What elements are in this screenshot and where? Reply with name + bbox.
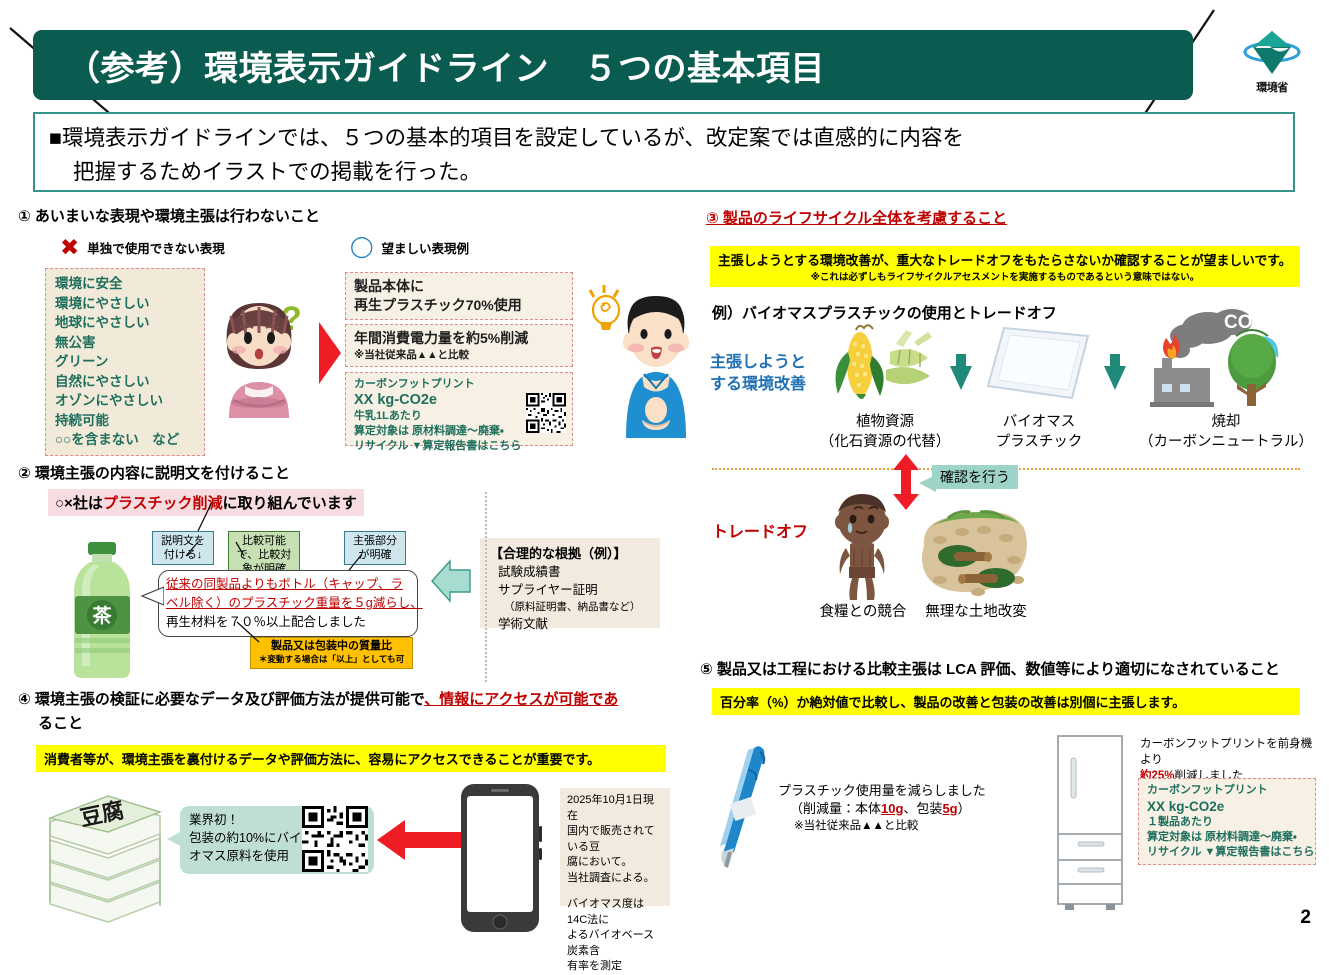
incineration-co2-icon: CO 2	[1136, 306, 1296, 419]
tag-mass-ratio-sub: ＊変動する場合は「以上」としても可	[254, 653, 409, 666]
deforestation-icon	[918, 500, 1032, 607]
cfp-title: カーボンフットプリント	[1147, 783, 1307, 798]
cfp-value: XX kg-CO2e	[1147, 798, 1307, 815]
refrigerator-illustration	[1052, 734, 1130, 919]
section-4-yellow-note: 消費者等が、環境主張を裏付けるデータや評価方法に、容易にアクセスできることが重要…	[36, 745, 666, 772]
note-line: よるバイオベース炭素含	[567, 928, 663, 959]
good-card-1: 製品本体に 再生プラスチック70%使用	[345, 272, 573, 320]
good-expressions-label: 望ましい表現例	[382, 238, 470, 257]
section-3-improvement-label: 主張しようと する環境改善	[710, 352, 806, 396]
note-line: 国内で販売されている豆	[567, 824, 663, 855]
lightbulb-icon	[590, 285, 619, 330]
tag-mass-ratio: 製品又は包装中の質量比 ＊変動する場合は「以上」としても可	[250, 637, 413, 669]
smartphone-illustration	[455, 782, 547, 939]
section-5-yellow-note: 百分率（%）か絶対値で比較し、製品の改善と包装の改善は別個に主張します。	[712, 688, 1300, 715]
good-card-1-line-1: 製品本体に	[354, 277, 564, 296]
evidence-item: 学術文献	[490, 615, 650, 633]
confirm-tag-tail-icon	[918, 474, 936, 494]
section-3-yellow-note: 主張しようとする環境改善が、重大なトレードオフをもたらさないか確認することが望ま…	[710, 246, 1300, 287]
tradeoff-item-2-label: 無理な土地改変	[900, 602, 1052, 622]
pen-value-package: 5g	[942, 801, 957, 816]
bubble-line-1: 従来の同製品よりもボトル（キャップ、ラ	[166, 575, 410, 594]
ministry-emblem-icon	[1243, 28, 1301, 78]
x-mark-icon: ✖	[60, 237, 79, 257]
section-4-note-box: 2025年10月1日現在 国内で販売されている豆 腐において。 当社調査による。…	[560, 788, 670, 906]
section-4-heading-part-1: ④ 環境主張の検証に必要なデータ及び評価方法が提供可能で	[18, 691, 424, 708]
section-3-yellow-sub: ※これは必ずしもライフサイクルアセスメントを実施するものであるという意味ではない…	[718, 269, 1292, 283]
section-4-heading-highlight: 、情報にアクセスが可能であ	[424, 691, 618, 708]
pen-description: プラスチック使用量を減らしました （削減量：本体10g、包装5g） ※当社従来品…	[778, 782, 986, 834]
evidence-item: 試験成績書	[490, 563, 650, 581]
lead-line-1: ■環境表示ガイドラインでは、５つの基本的項目を設定しているが、改定案では直感的に…	[49, 121, 1279, 155]
note-line: 腐において。	[567, 855, 663, 871]
flow-item-3-label: 焼却 （カーボンニュートラル）	[1128, 412, 1324, 452]
qr-code-icon[interactable]	[302, 806, 368, 872]
tofu-package-illustration: 豆腐	[30, 786, 178, 931]
good-expressions-header: ◯ 望ましい表現例	[350, 237, 469, 257]
section-3-yellow-main: 主張しようとする環境改善が、重大なトレードオフをもたらさないか確認することが望ま…	[718, 250, 1292, 269]
mint-bubble-tail-icon	[166, 828, 184, 850]
evidence-title: 【合理的な根拠（例）】	[490, 544, 650, 563]
section-5-yellow-text: 百分率（%）か絶対値で比較し、製品の改善と包装の改善は別個に主張します。	[720, 692, 1292, 711]
section-5-heading: ⑤ 製品又は工程における比較主張は LCA 評価、数値等により適切になされている…	[700, 658, 1280, 679]
confused-person-illustration: ?	[207, 290, 327, 425]
lead-statement-box: ■環境表示ガイドラインでは、５つの基本的項目を設定しているが、改定案では直感的に…	[33, 112, 1295, 192]
co2-subscript: 2	[1256, 322, 1263, 336]
section-4-heading-part-2: ること	[18, 712, 698, 733]
flow-item-2-label: バイオマス プラスチック	[972, 412, 1106, 452]
confirm-action-tag: 確認を行う	[932, 465, 1018, 489]
right-arrow-red-icon	[317, 320, 343, 391]
list-item: オゾンにやさしい	[55, 391, 195, 411]
section-3-heading: ③ 製品のライフサイクル全体を考慮すること	[706, 207, 1007, 228]
pet-bottle-illustration: 茶	[50, 540, 154, 685]
cfp-line-2: 算定対象は 原材料調達～廃棄・	[1147, 830, 1307, 845]
bottle-label-text: 茶	[92, 604, 112, 627]
tag-leader-line-mass	[235, 620, 271, 646]
slide-root: （参考）環境表示ガイドライン ５つの基本項目 環境省 ■環境表示ガイドラインでは…	[0, 0, 1329, 937]
idea-person-illustration	[578, 282, 698, 445]
tag-mass-ratio-main: 製品又は包装中の質量比	[254, 640, 409, 653]
section-4-yellow-text: 消費者等が、環境主張を裏付けるデータや評価方法に、容易にアクセスできることが重要…	[44, 749, 658, 768]
section-1-heading: ① あいまいな表現や環境主張は行わないこと	[18, 205, 320, 226]
good-card-2: 年間消費電力量を約5%削減 ※当社従来品▲▲と比較	[345, 324, 573, 367]
section-2-heading: ② 環境主張の内容に説明文を付けること	[18, 462, 290, 483]
bubble-tail-icon	[140, 585, 164, 609]
bubble-line-2: ベル除く）のプラスチック重量を５g減らし、	[166, 594, 410, 613]
corn-sugarcane-icon	[826, 322, 944, 419]
list-item: 持続可能	[55, 411, 195, 431]
claim-prefix: ○×社は	[55, 495, 103, 512]
fridge-line-1: カーボンフットプリントを前身機より	[1140, 736, 1320, 768]
tradeoff-label: トレードオフ	[712, 518, 808, 542]
hungry-child-icon	[820, 492, 906, 607]
ministry-logo: 環境省	[1229, 28, 1315, 95]
evidence-item: サプライヤー証明	[490, 581, 650, 599]
fridge-description: カーボンフットプリントを前身機より 約25%削減しました	[1140, 736, 1320, 784]
slide-title: （参考）環境表示ガイドライン ５つの基本項目	[33, 41, 825, 90]
page-number: 2	[1300, 907, 1311, 929]
list-item: ○○を含まない など	[55, 430, 195, 450]
note-line: 当社調査による。	[567, 871, 663, 887]
note-line: バイオマス度は14C法に	[567, 897, 663, 928]
cfp-line-3: リサイクル ▼算定報告書はこちら	[354, 439, 564, 454]
rational-evidence-box: 【合理的な根拠（例）】 試験成績書 サプライヤー証明 （原料証明書、納品書など）…	[480, 538, 660, 628]
list-item: 無公害	[55, 333, 195, 353]
note-line: 2025年10月1日現在	[567, 793, 663, 824]
left-arrow-red-large-icon	[375, 818, 463, 867]
flow-arrow-2-icon	[1102, 352, 1128, 397]
good-card-3-cfp: カーボンフットプリント XX kg-CO2e 牛乳1Lあたり 算定対象は 原材料…	[345, 372, 573, 446]
bad-expressions-label: 単独で使用できない表現	[87, 238, 225, 257]
lead-line-2: 把握するためイラストでの掲載を行った。	[49, 155, 1279, 189]
section-4-heading: ④ 環境主張の検証に必要なデータ及び評価方法が提供可能で、情報にアクセスが可能で…	[18, 688, 698, 733]
qr-code-icon[interactable]	[526, 393, 566, 433]
o-mark-icon: ◯	[350, 237, 374, 257]
list-item: 自然にやさしい	[55, 372, 195, 392]
pen-value-body: 10g	[881, 801, 903, 816]
list-item: 環境にやさしい	[55, 294, 195, 314]
list-item: 環境に安全	[55, 274, 195, 294]
list-item: グリーン	[55, 352, 195, 372]
flow-arrow-1-icon	[948, 352, 974, 397]
cfp-line-1: １製品あたり	[1147, 815, 1307, 830]
factory-icon	[1150, 358, 1214, 407]
note-line: 有率を測定	[567, 959, 663, 975]
flow-item-1-label: 植物資源 （化石資源の代替）	[800, 412, 970, 452]
good-card-2-note: ※当社従来品▲▲と比較	[354, 348, 564, 362]
ministry-logo-label: 環境省	[1229, 79, 1315, 95]
pen-line-3: ※当社従来品▲▲と比較	[778, 818, 986, 834]
list-item: 地球にやさしい	[55, 313, 195, 333]
cfp-title: カーボンフットプリント	[354, 377, 564, 392]
plastic-sheet-icon	[984, 320, 1094, 415]
cfp-line-3: リサイクル ▼算定報告書はこちら	[1147, 845, 1307, 860]
pen-line-1: プラスチック使用量を減らしました	[778, 782, 986, 800]
good-card-2-line-1: 年間消費電力量を約5%削減	[354, 329, 564, 348]
fridge-cfp-card: カーボンフットプリント XX kg-CO2e １製品あたり 算定対象は 原材料調…	[1138, 778, 1316, 865]
note-spacer	[567, 886, 663, 897]
bad-expressions-header: ✖ 単独で使用できない表現	[60, 237, 225, 257]
pen-line-2: （削減量：本体10g、包装5g）	[778, 800, 986, 818]
section-2-description-bubble: 従来の同製品よりもボトル（キャップ、ラ ベル除く）のプラスチック重量を５g減らし…	[158, 570, 418, 637]
bubble-line-3: 再生材料を７０％以上配合しました	[166, 613, 410, 632]
good-card-1-line-2: 再生プラスチック70%使用	[354, 296, 564, 315]
evidence-sub: （原料証明書、納品書など）	[490, 599, 650, 615]
slide-title-bar: （参考）環境表示ガイドライン ５つの基本項目	[33, 30, 1193, 100]
column-divider	[485, 492, 487, 682]
left-arrow-teal-icon	[430, 556, 472, 611]
ballpoint-pen-illustration	[708, 742, 780, 897]
bad-expressions-list: 環境に安全 環境にやさしい 地球にやさしい 無公害 グリーン 自然にやさしい オ…	[45, 268, 205, 456]
